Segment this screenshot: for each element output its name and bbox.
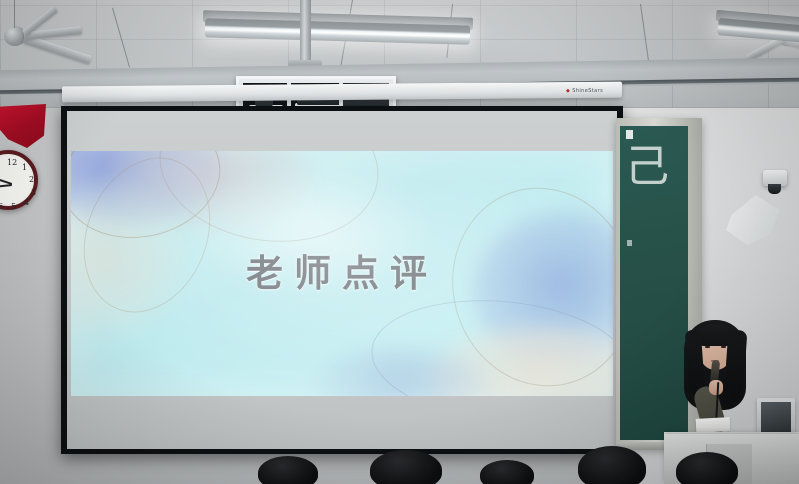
security-camera-lens-icon	[768, 184, 781, 194]
clock-numeral: 2	[29, 175, 34, 184]
fan-downrod	[14, 0, 15, 28]
chalkboard-writing: 己	[625, 145, 669, 189]
eye	[721, 346, 726, 348]
clock-numeral: 3	[31, 188, 36, 197]
classroom-photo: ◆ ShineStars 老师点评	[0, 0, 799, 484]
clock-numeral: 1	[22, 163, 27, 172]
student-head	[480, 460, 534, 484]
podium-monitor-screen	[761, 402, 791, 434]
student-head	[676, 452, 738, 484]
slide-title: 老师点评	[71, 243, 613, 297]
chalk-smudge	[626, 130, 633, 139]
eye	[705, 346, 710, 348]
clock-numeral: 12	[7, 158, 17, 167]
clock-minute-hand	[0, 184, 12, 188]
projected-slide: 老师点评	[71, 151, 613, 396]
student-head	[370, 450, 442, 484]
clock-numeral: 6	[0, 202, 3, 211]
clock-numeral: 5	[11, 202, 16, 211]
screen-brand-label: ◆ ShineStars	[566, 88, 603, 94]
projection-screen-surface: 老师点评	[67, 111, 617, 449]
student-head	[578, 446, 646, 484]
student-head	[258, 456, 318, 484]
projector-mount-pole	[300, 0, 311, 66]
clock-numeral: 4	[24, 198, 29, 207]
papers-on-podium	[696, 417, 731, 433]
clock-face: 12 1 2 3 4 5 6	[0, 156, 32, 204]
projection-screen-frame: 老师点评	[61, 106, 623, 454]
brand-name: ShineStars	[572, 88, 603, 94]
brand-mark-icon: ◆	[566, 88, 570, 94]
chalk-smudge	[627, 240, 632, 246]
